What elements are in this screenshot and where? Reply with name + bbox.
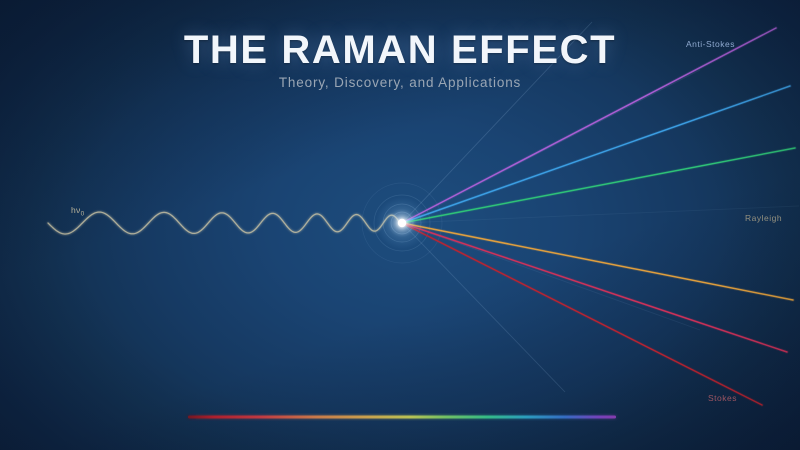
page-title: THE RAMAN EFFECT (0, 28, 800, 73)
raman-effect-infographic: THE RAMAN EFFECT Theory, Discovery, and … (0, 0, 800, 450)
incident-photon-subscript: 0 (81, 211, 85, 218)
incident-photon-label: hν0 (71, 205, 85, 218)
label-stokes: Stokes (708, 393, 737, 403)
label-rayleigh: Rayleigh (745, 213, 782, 223)
incident-photon-symbol: hν (71, 205, 81, 215)
label-anti-stokes: Anti-Stokes (686, 39, 735, 49)
page-subtitle: Theory, Discovery, and Applications (0, 75, 800, 90)
